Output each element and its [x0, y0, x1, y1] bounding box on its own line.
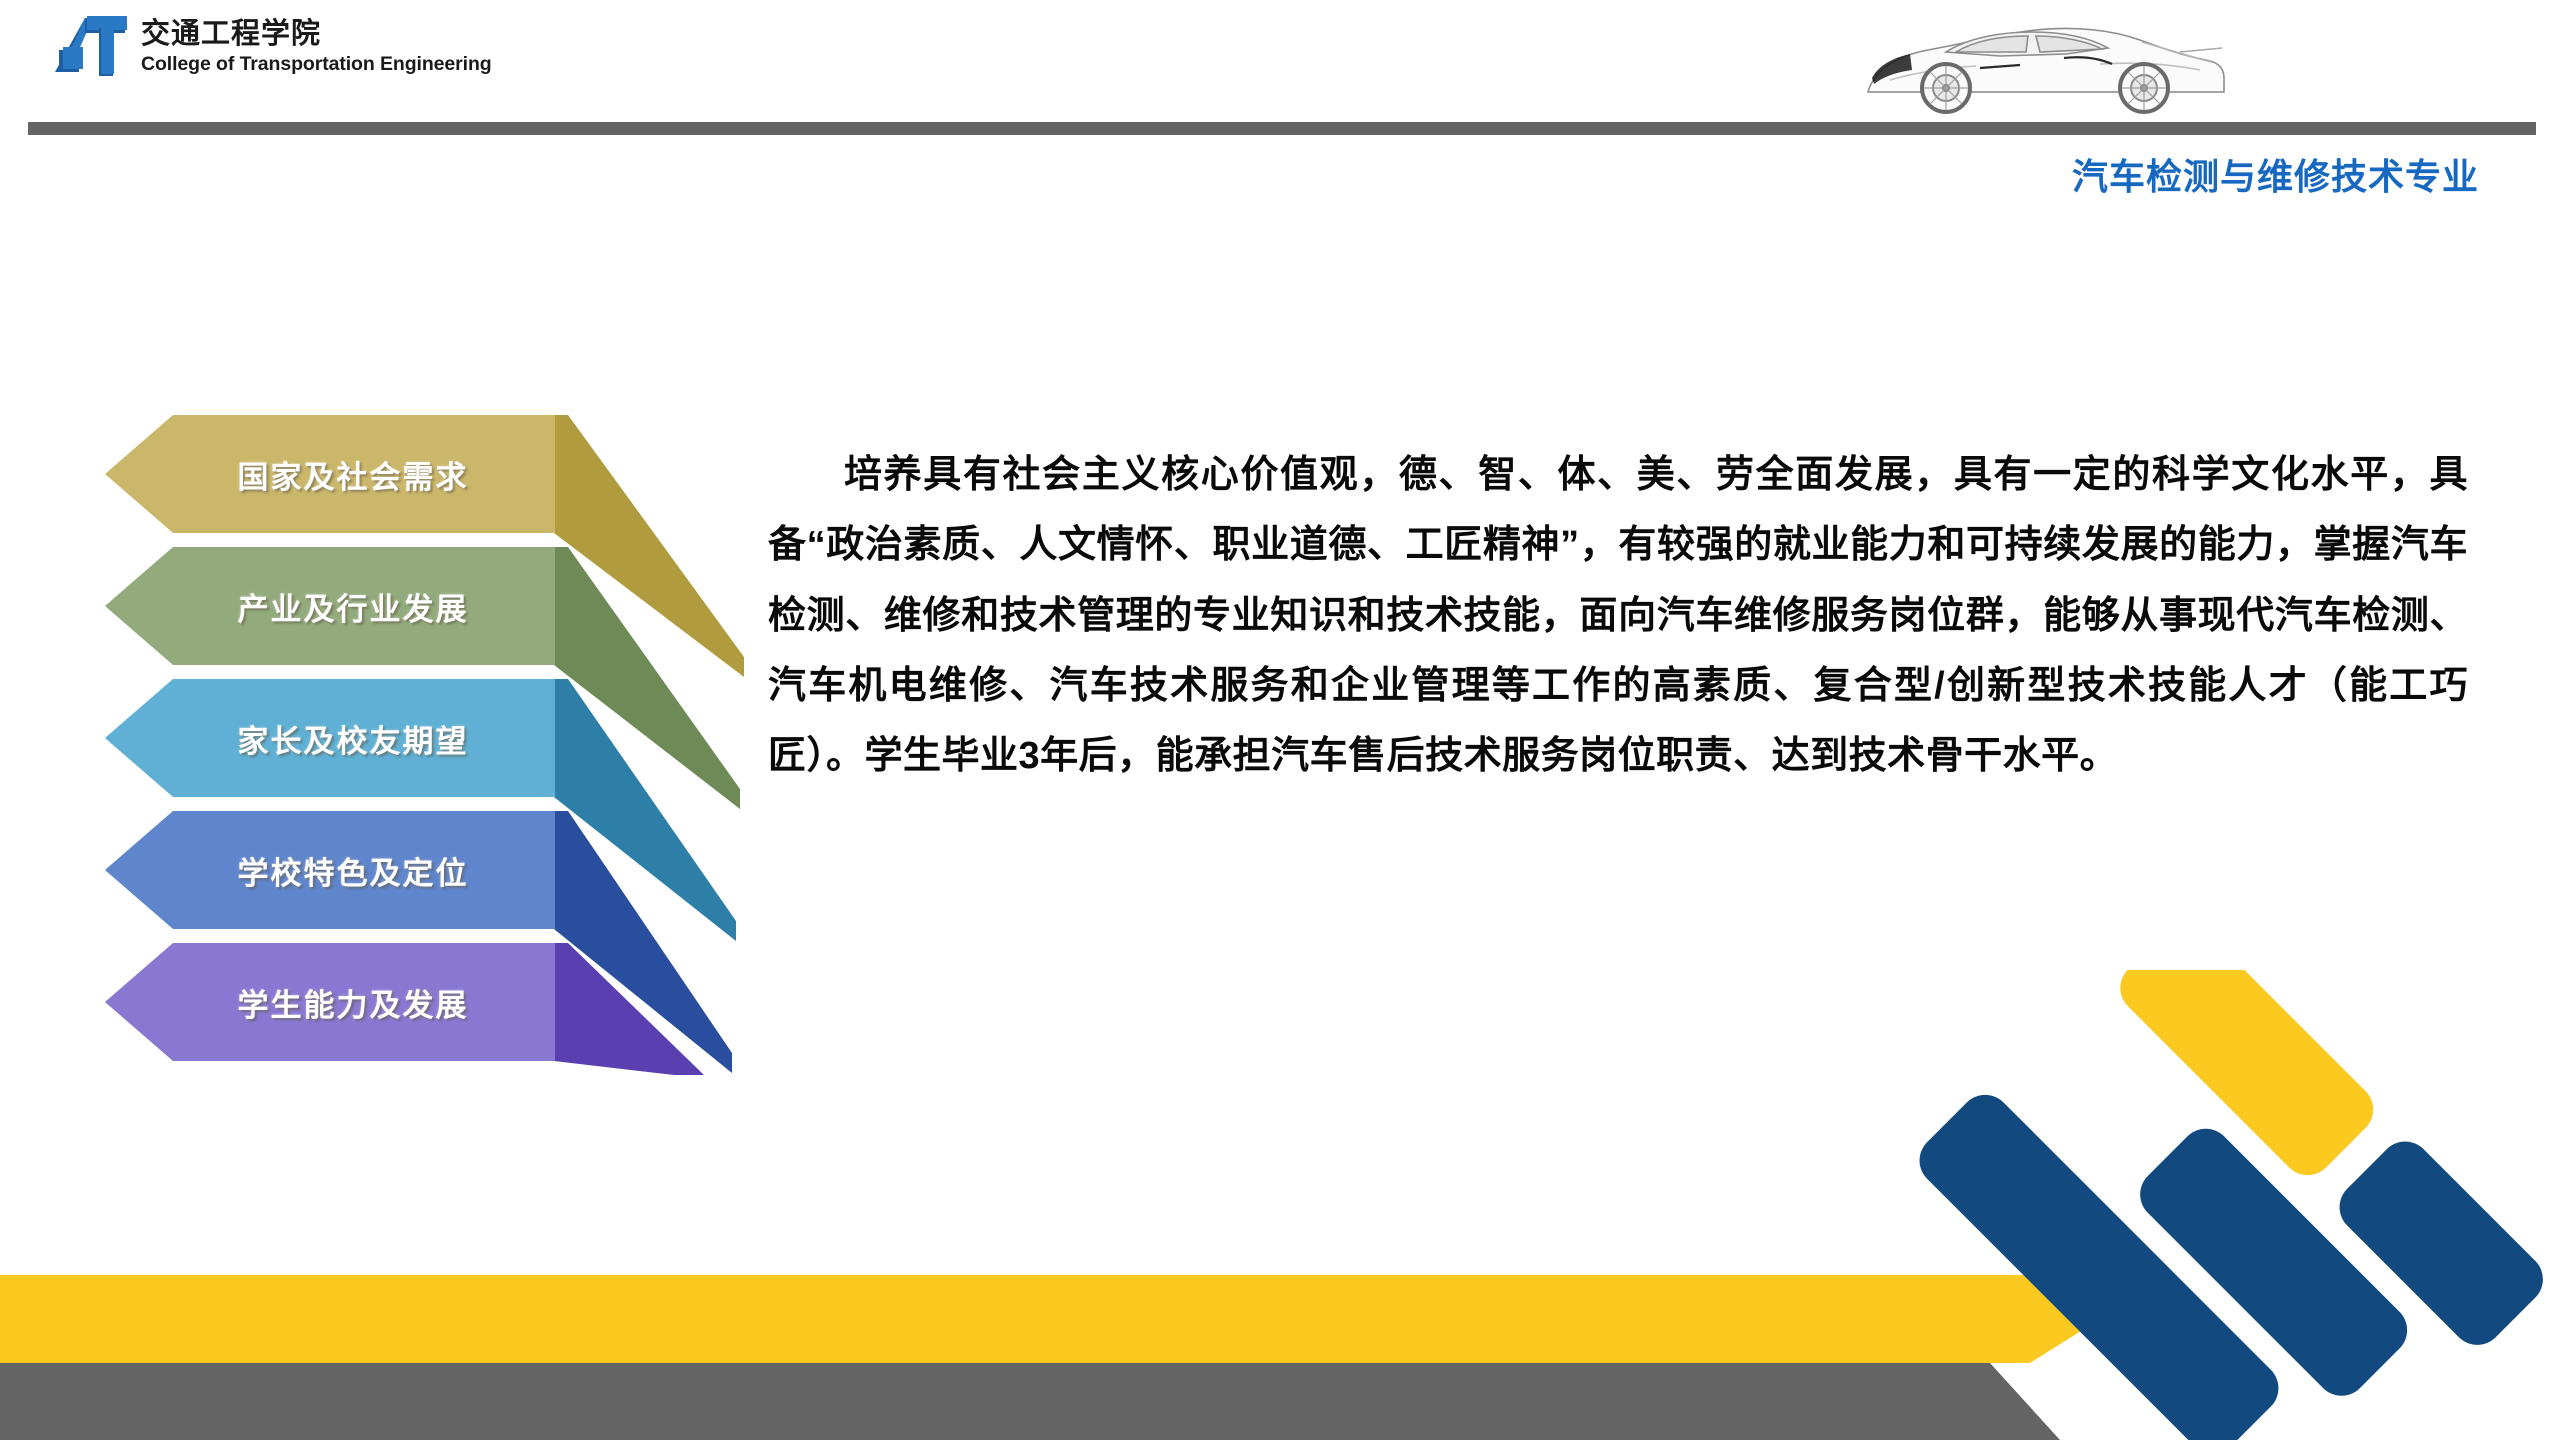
chevron-stack: 国家及社会需求 产业及行业发展 家长及校友期望 学校特色及定位 学生能力及发展 [105, 415, 745, 1075]
college-name-block: 交通工程学院 College of Transportation Enginee… [141, 14, 492, 76]
chevron-row-1[interactable]: 国家及社会需求 [105, 415, 665, 533]
college-name-en: College of Transportation Engineering [141, 53, 492, 75]
body-paragraph: 培养具有社会主义核心价值观，德、智、体、美、劳全面发展，具有一定的科学文化水平，… [768, 440, 2468, 791]
header-divider-rule [28, 122, 2536, 135]
slide-header: 交通工程学院 College of Transportation Enginee… [0, 0, 2559, 140]
college-logo-group: 交通工程学院 College of Transportation Enginee… [55, 14, 492, 76]
chevron-face-4[interactable]: 学校特色及定位 [105, 811, 555, 929]
chevron-label-2: 产业及行业发展 [192, 584, 469, 629]
chevron-row-4[interactable]: 学校特色及定位 [105, 811, 665, 929]
ct-monogram-logo-icon [55, 14, 127, 76]
chevron-row-5[interactable]: 学生能力及发展 [105, 943, 665, 1061]
page-title: 汽车检测与维修技术专业 [2072, 148, 2479, 200]
chevron-row-3[interactable]: 家长及校友期望 [105, 679, 665, 797]
slide-canvas: 交通工程学院 College of Transportation Enginee… [0, 0, 2559, 1440]
chevron-bars-decoration-icon [1919, 970, 2559, 1440]
chevron-label-1: 国家及社会需求 [192, 452, 469, 497]
chevron-face-1[interactable]: 国家及社会需求 [105, 415, 555, 533]
college-name-cn: 交通工程学院 [141, 18, 492, 50]
chevron-label-3: 家长及校友期望 [192, 716, 469, 761]
chevron-face-5[interactable]: 学生能力及发展 [105, 943, 555, 1061]
gray-band [0, 1363, 2060, 1440]
chevron-label-5: 学生能力及发展 [192, 980, 469, 1025]
chevron-row-2[interactable]: 产业及行业发展 [105, 547, 665, 665]
sports-car-illustration-icon [1850, 8, 2230, 118]
chevron-face-2[interactable]: 产业及行业发展 [105, 547, 555, 665]
chevron-face-3[interactable]: 家长及校友期望 [105, 679, 555, 797]
yellow-band [0, 1275, 2100, 1363]
chevron-label-4: 学校特色及定位 [192, 848, 469, 893]
